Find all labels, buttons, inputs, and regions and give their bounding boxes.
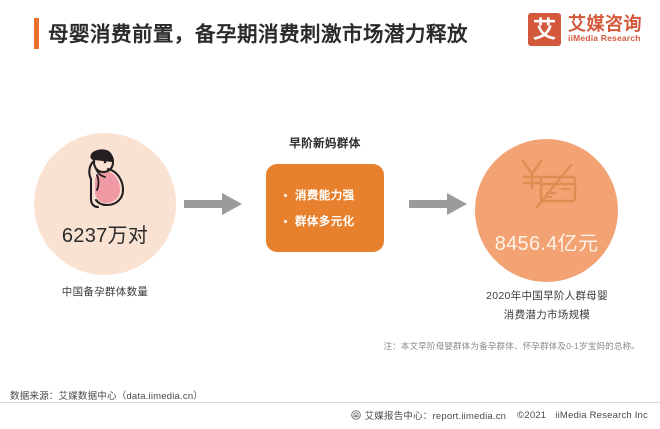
slide-root: 母婴消费前置，备孕期消费刺激市场潜力释放 艾 艾媒咨询 iiMedia Rese…	[0, 0, 660, 429]
brand-text: 艾媒咨询 iiMedia Research	[568, 15, 642, 45]
right-caption-line-1: 2020年中国早阶人群母婴	[456, 287, 638, 306]
brand-name-en: iiMedia Research	[568, 33, 642, 44]
arrow-right-icon	[184, 192, 242, 216]
left-stat-value: 6237万对	[34, 219, 176, 248]
brand-name-cn: 艾媒咨询	[568, 15, 642, 34]
footer-divider	[0, 402, 660, 403]
center-heading: 早阶新妈群体	[266, 135, 384, 151]
yen-credit-card-icon	[515, 155, 579, 213]
right-stat-caption: 2020年中国早阶人群母婴 消费潜力市场规模	[456, 287, 638, 326]
title-accent-bar	[34, 18, 39, 49]
data-source-label: 数据来源：艾媒数据中心（data.iimedia.cn）	[10, 388, 203, 402]
brand-mark-icon: 艾	[528, 13, 561, 46]
page-title: 母婴消费前置，备孕期消费刺激市场潜力释放	[48, 17, 468, 47]
report-center-label: 艾媒报告中心：report.iimedia.cn	[365, 408, 507, 422]
bullet-icon	[284, 194, 287, 197]
right-stat-circle: 8456.4亿元	[475, 139, 618, 282]
center-attributes-list: 消费能力强 群体多元化	[266, 164, 384, 252]
footnote: 注：本文早阶母婴群体为备孕群体、怀孕群体及0-1岁宝妈的总称。	[384, 340, 641, 352]
list-item: 群体多元化	[284, 213, 384, 229]
pregnant-woman-icon	[77, 147, 133, 211]
list-item: 消费能力强	[284, 187, 384, 203]
copyright-label: ©2021	[517, 410, 546, 421]
company-label: iiMedia Research Inc	[555, 410, 648, 421]
arrow-right-icon	[409, 192, 467, 216]
center-attributes-box: 消费能力强 群体多元化	[266, 164, 384, 252]
list-item-label: 消费能力强	[295, 187, 355, 203]
report-center-icon	[351, 410, 361, 420]
left-stat-caption: 中国备孕群体数量	[34, 284, 176, 299]
right-stat-value: 8456.4亿元	[475, 227, 618, 256]
brand-logo: 艾 艾媒咨询 iiMedia Research	[528, 13, 642, 46]
bullet-icon	[284, 220, 287, 223]
footer-right: 艾媒报告中心：report.iimedia.cn ©2021 iiMedia R…	[351, 408, 648, 422]
right-caption-line-2: 消费潜力市场规模	[456, 306, 638, 325]
list-item-label: 群体多元化	[295, 213, 355, 229]
left-stat-circle: 6237万对	[34, 133, 176, 275]
